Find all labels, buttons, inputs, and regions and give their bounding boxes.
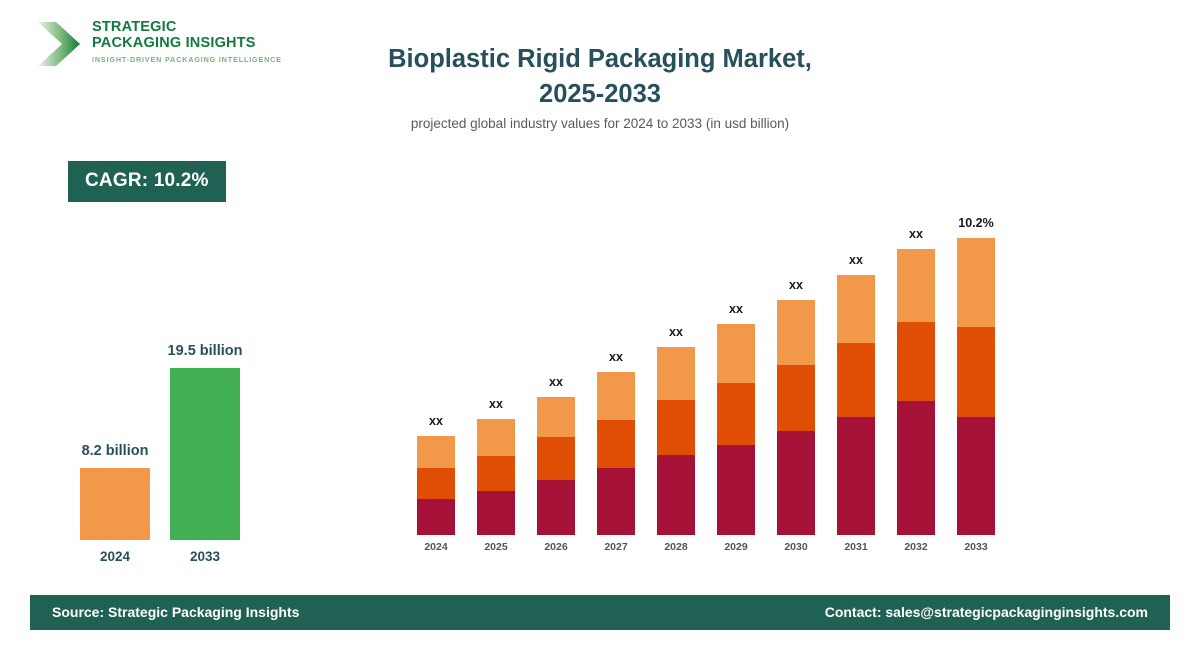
- stacked-bar-top-label: xx: [761, 278, 831, 292]
- stacked-bar-segment-bottom: [537, 480, 575, 535]
- stacked-bar-segment-bottom: [777, 431, 815, 535]
- stacked-bar-segment-bottom: [417, 499, 455, 535]
- green-chevron-icon: [32, 18, 84, 70]
- stacked-bar-2026: xx2026: [537, 397, 575, 535]
- stacked-bar-segment-middle: [477, 456, 515, 491]
- stacked-bar-segment-middle: [537, 437, 575, 480]
- logo-line-1: STRATEGIC: [92, 20, 282, 36]
- page-subtitle: projected global industry values for 202…: [200, 116, 1000, 131]
- stacked-bar-segment-bottom: [957, 417, 995, 535]
- stacked-bar-year-label: 2033: [941, 541, 1011, 553]
- stacked-bar-segment-top: [537, 397, 575, 437]
- stacked-bar-top-label: xx: [401, 414, 471, 428]
- stacked-bar-segment-middle: [417, 468, 455, 499]
- comparison-bar-value-label: 8.2 billion: [58, 443, 172, 459]
- market-size-comparison-chart: 8.2 billion202419.5 billion2033: [60, 320, 270, 570]
- stacked-bar-segment-top: [777, 300, 815, 365]
- stacked-bar-2030: xx2030: [777, 300, 815, 535]
- comparison-bar-rect: [80, 468, 150, 540]
- footer-source: Source: Strategic Packaging Insights: [52, 604, 299, 620]
- cagr-badge: CAGR: 10.2%: [68, 161, 226, 202]
- page-title-line-1: Bioplastic Rigid Packaging Market,: [200, 42, 1000, 77]
- stacked-bar-segment-middle: [957, 327, 995, 417]
- stacked-bar-2029: xx2029: [717, 324, 755, 535]
- stacked-bar-segment-middle: [597, 420, 635, 468]
- stacked-bar-segment-top: [477, 419, 515, 456]
- stacked-bar-2032: xx2032: [897, 249, 935, 535]
- stacked-bar-segment-top: [957, 238, 995, 327]
- stacked-bar-top-label: xx: [641, 325, 711, 339]
- stacked-bar-segment-bottom: [837, 417, 875, 535]
- comparison-bar-value-label: 19.5 billion: [148, 343, 262, 359]
- comparison-bar-2024: 8.2 billion2024: [80, 468, 150, 540]
- stacked-bar-top-label: xx: [581, 350, 651, 364]
- stacked-bar-segment-top: [417, 436, 455, 468]
- stacked-bar-top-label: xx: [821, 253, 891, 267]
- stacked-bar-2028: xx2028: [657, 347, 695, 535]
- stacked-bar-segment-top: [717, 324, 755, 383]
- stacked-bar-top-label: xx: [701, 302, 771, 316]
- stacked-bar-segment-top: [837, 275, 875, 343]
- stacked-bar-segment-middle: [657, 400, 695, 455]
- stacked-bar-2031: xx2031: [837, 275, 875, 535]
- stacked-bar-segment-middle: [777, 365, 815, 431]
- stacked-bar-segment-top: [597, 372, 635, 420]
- stacked-bar-2025: xx2025: [477, 419, 515, 535]
- stacked-bar-segment-top: [897, 249, 935, 322]
- stacked-bar-segment-middle: [897, 322, 935, 401]
- comparison-bar-year-label: 2033: [148, 549, 262, 564]
- stacked-bar-segment-top: [657, 347, 695, 400]
- stacked-bar-segment-middle: [837, 343, 875, 417]
- stacked-bar-top-label: xx: [461, 397, 531, 411]
- comparison-bar-2033: 19.5 billion2033: [170, 368, 240, 540]
- stacked-bar-segment-bottom: [597, 468, 635, 535]
- page-title-line-2: 2025-2033: [200, 77, 1000, 112]
- stacked-bar-2024: xx2024: [417, 436, 455, 535]
- stacked-bar-top-label: 10.2%: [941, 216, 1011, 230]
- stacked-bar-2033: 10.2%2033: [957, 238, 995, 535]
- segment-stacked-forecast-chart: xx2024xx2025xx2026xx2027xx2028xx2029xx20…: [405, 195, 1005, 560]
- page-title: Bioplastic Rigid Packaging Market, 2025-…: [200, 42, 1000, 112]
- stacked-bar-segment-middle: [717, 383, 755, 445]
- stacked-bar-segment-bottom: [477, 491, 515, 535]
- stacked-bar-segment-bottom: [657, 455, 695, 535]
- stacked-bar-segment-bottom: [897, 401, 935, 535]
- stacked-bar-segment-bottom: [717, 445, 755, 535]
- stacked-bar-2027: xx2027: [597, 372, 635, 535]
- stacked-bar-top-label: xx: [521, 375, 591, 389]
- footer-bar: Source: Strategic Packaging Insights Con…: [30, 595, 1170, 630]
- footer-contact: Contact: sales@strategicpackaginginsight…: [825, 604, 1148, 620]
- comparison-bar-rect: [170, 368, 240, 540]
